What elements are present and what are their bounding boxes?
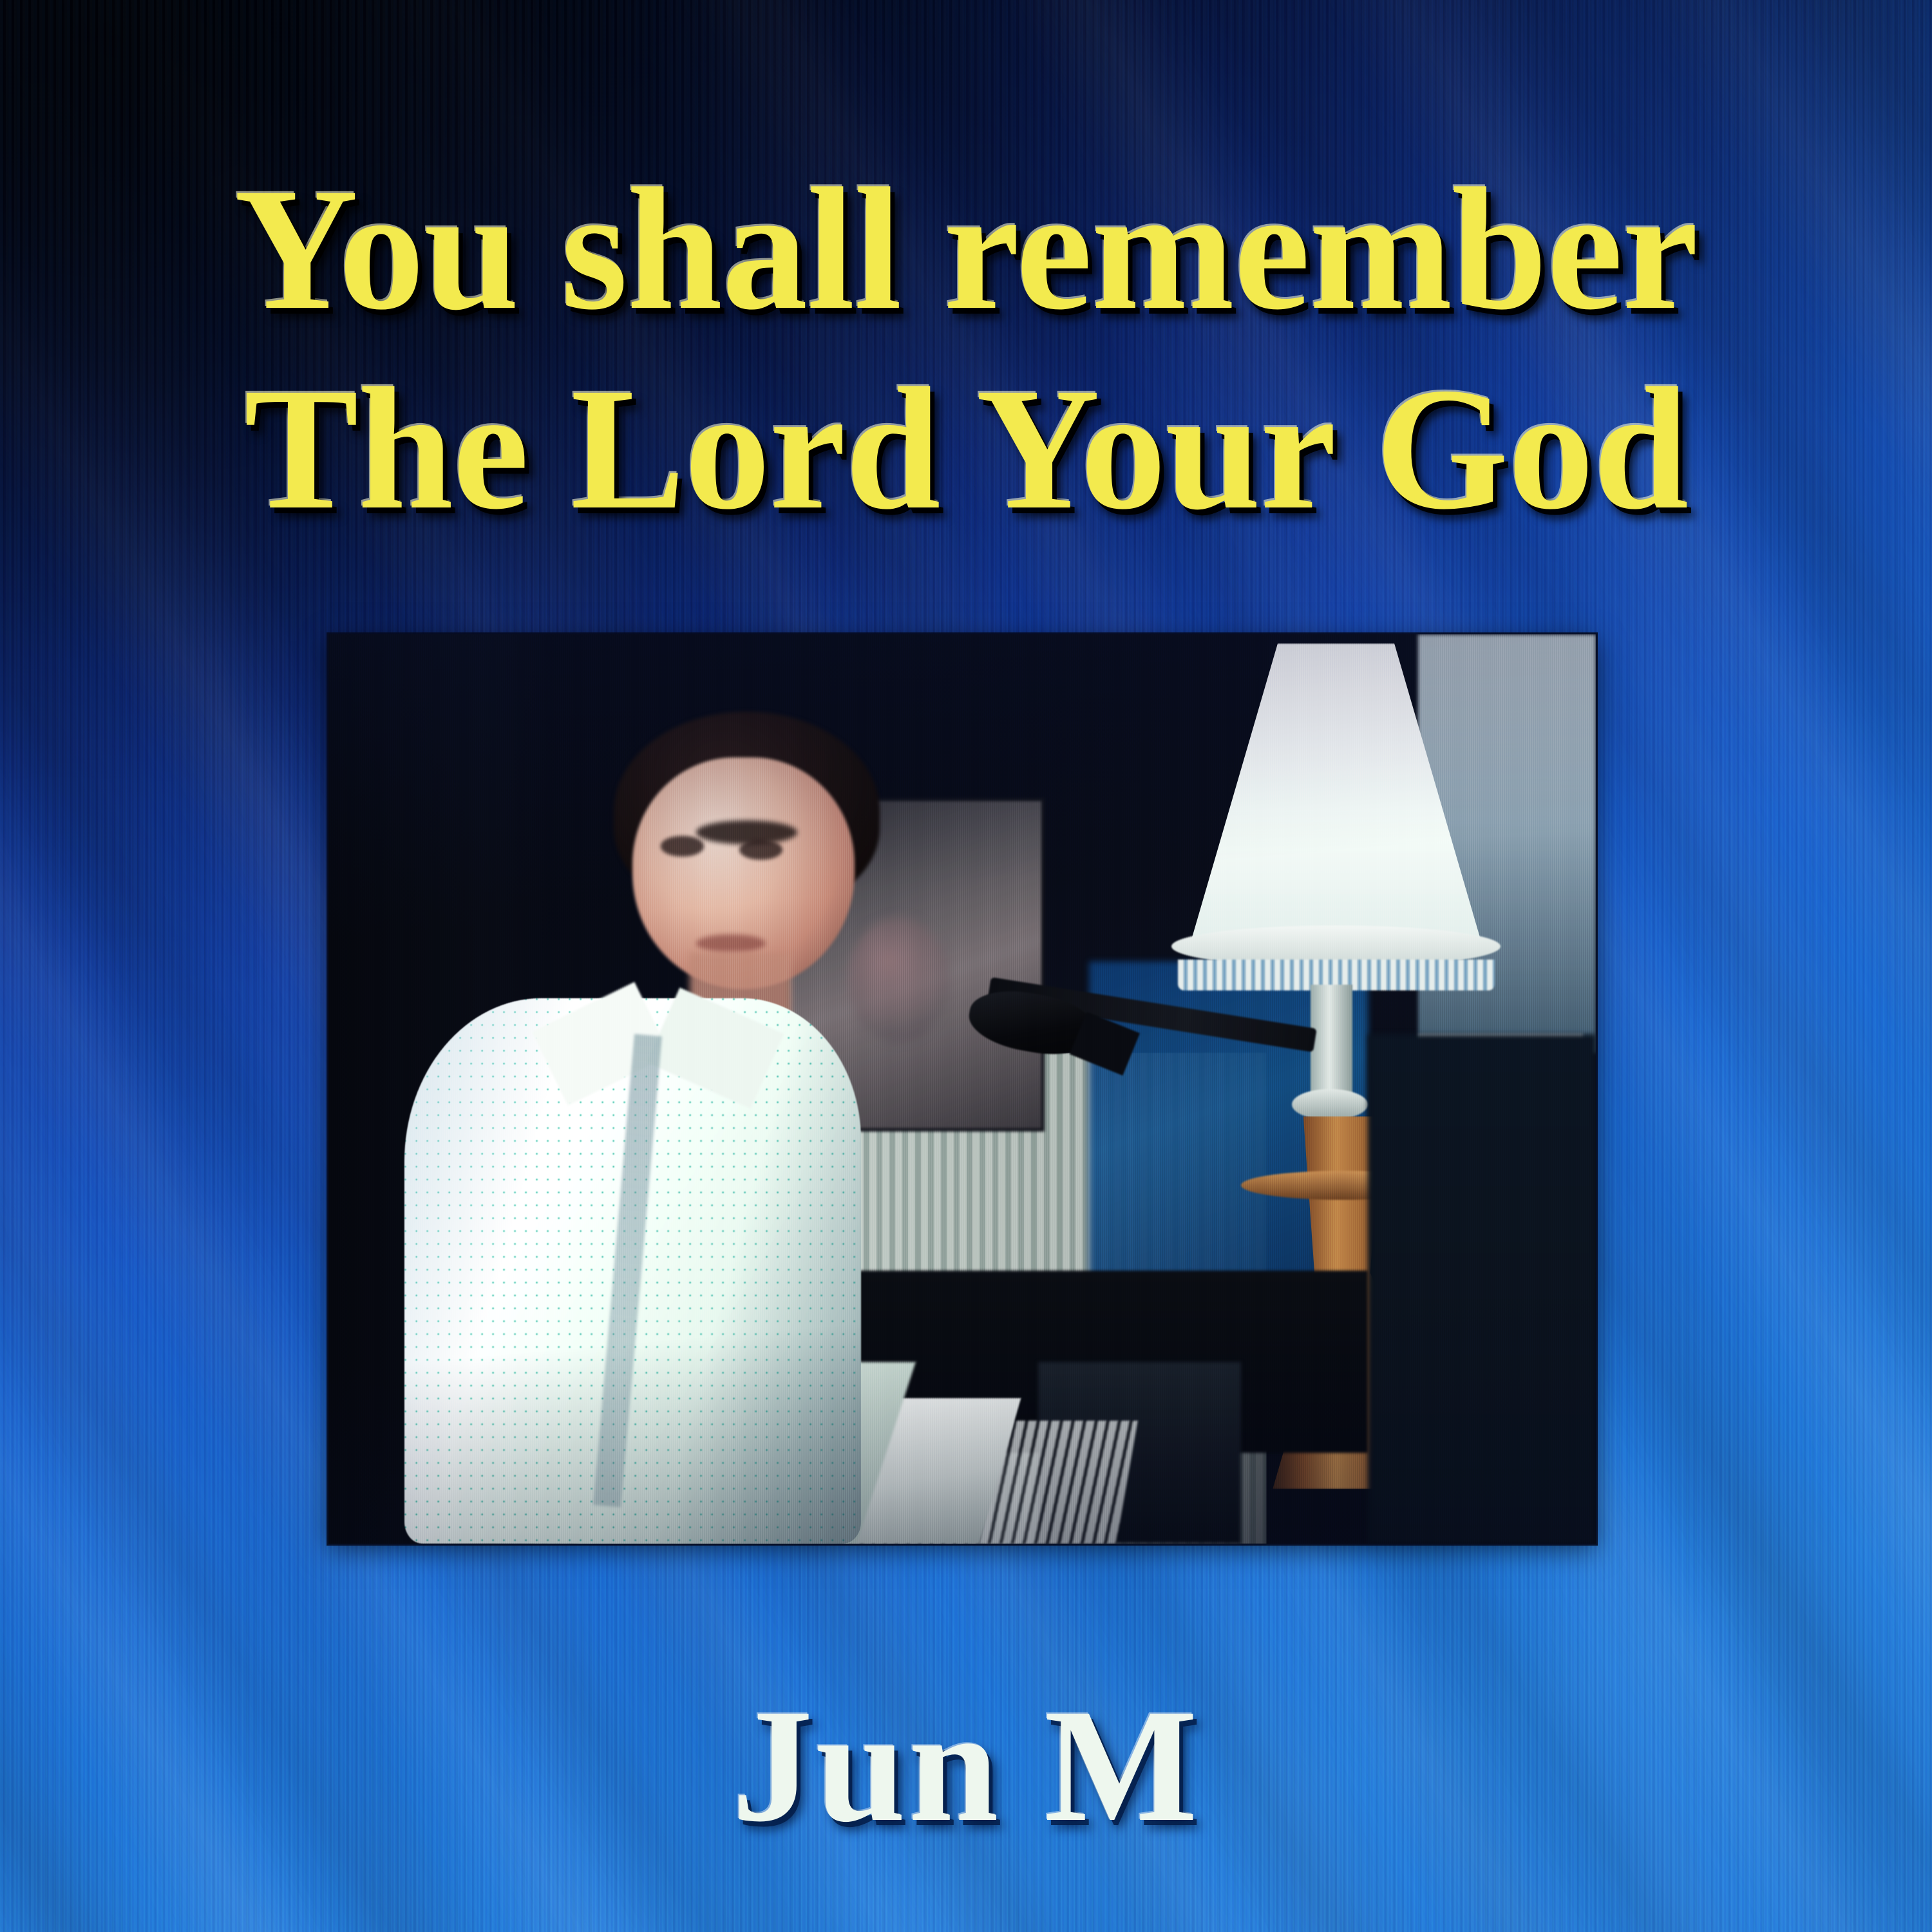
title-line-2: The Lord Your God <box>19 349 1913 549</box>
title-line-1: You shall remember <box>19 149 1913 349</box>
performance-photo <box>328 634 1596 1544</box>
slide-canvas: You shall remember The Lord Your God <box>0 0 1932 1932</box>
performer-name: Jun M <box>732 1675 1200 1855</box>
performer-caption: Jun M <box>0 1672 1932 1859</box>
photo-scanlines <box>328 634 1596 1544</box>
slide-title: You shall remember The Lord Your God <box>0 149 1932 549</box>
